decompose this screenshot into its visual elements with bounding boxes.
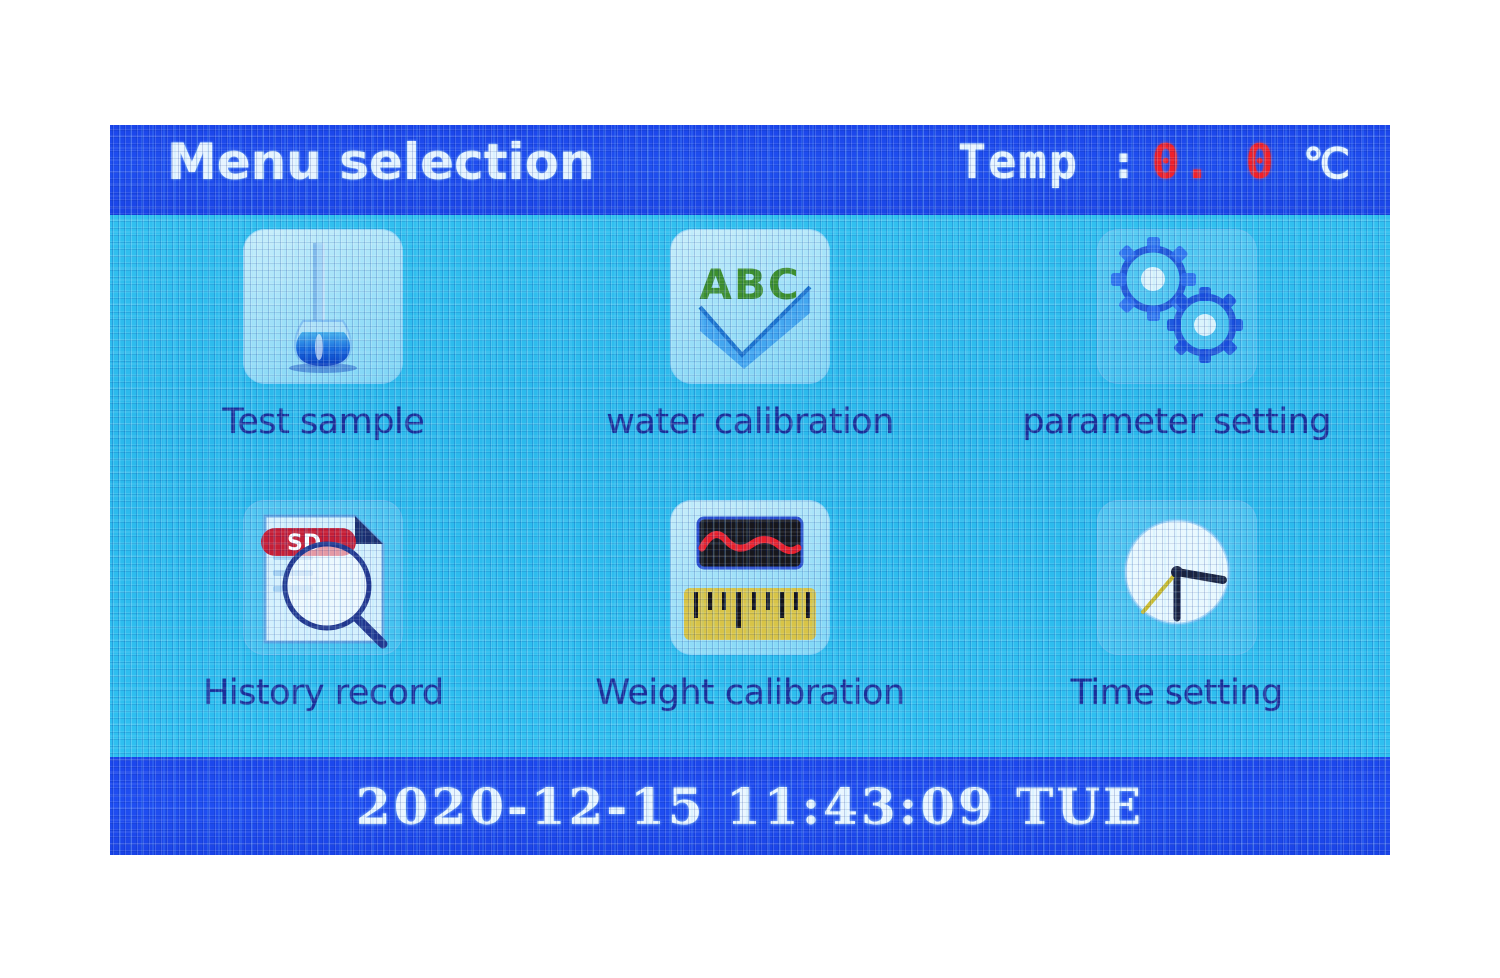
- menu-label-history-record: History record: [203, 673, 443, 713]
- weight-calibration-tile[interactable]: [670, 500, 830, 655]
- scale-ruler-icon: [670, 500, 830, 655]
- menu-label-test-sample: Test sample: [222, 402, 424, 442]
- menu-label-parameter-setting: parameter setting: [1022, 402, 1331, 442]
- footer-bar: 2020-12-15 11:43:09 TUE: [110, 757, 1390, 855]
- sd-card-magnifier-icon: SD: [243, 500, 403, 655]
- abc-check-icon: ABC: [670, 229, 830, 384]
- page-title: Menu selection: [167, 133, 595, 191]
- gears-icon: [1097, 229, 1257, 384]
- device-screen: Menu selection Temp : 0. 0 ℃: [110, 125, 1390, 855]
- menu-grid: Test sample ABC water calibration: [110, 215, 1390, 757]
- parameter-setting-tile[interactable]: [1097, 229, 1257, 384]
- temperature-unit: ℃: [1303, 139, 1350, 188]
- menu-item-weight-calibration[interactable]: Weight calibration: [537, 486, 964, 757]
- test-sample-tile[interactable]: [243, 229, 403, 384]
- history-record-tile[interactable]: SD: [243, 500, 403, 655]
- clock-icon: [1097, 500, 1257, 655]
- time-setting-tile[interactable]: [1097, 500, 1257, 655]
- menu-item-parameter-setting[interactable]: parameter setting: [963, 215, 1390, 486]
- temperature-display: Temp : 0. 0 ℃: [958, 135, 1350, 190]
- header-bar: Menu selection Temp : 0. 0 ℃: [110, 125, 1390, 215]
- menu-label-weight-calibration: Weight calibration: [595, 673, 904, 713]
- menu-label-time-setting: Time setting: [1071, 673, 1283, 713]
- svg-text:ABC: ABC: [699, 260, 800, 309]
- menu-item-test-sample[interactable]: Test sample: [110, 215, 537, 486]
- menu-label-water-calibration: water calibration: [606, 402, 894, 442]
- datetime-display: 2020-12-15 11:43:09 TUE: [356, 777, 1144, 836]
- flask-icon: [243, 229, 403, 384]
- water-calibration-tile[interactable]: ABC: [670, 229, 830, 384]
- menu-area: Test sample ABC water calibration: [110, 215, 1390, 757]
- temperature-label: Temp :: [958, 135, 1140, 190]
- menu-item-time-setting[interactable]: Time setting: [963, 486, 1390, 757]
- menu-item-history-record[interactable]: SD History record: [110, 486, 537, 757]
- menu-item-water-calibration[interactable]: ABC water calibration: [537, 215, 964, 486]
- temperature-value: 0. 0: [1152, 135, 1277, 190]
